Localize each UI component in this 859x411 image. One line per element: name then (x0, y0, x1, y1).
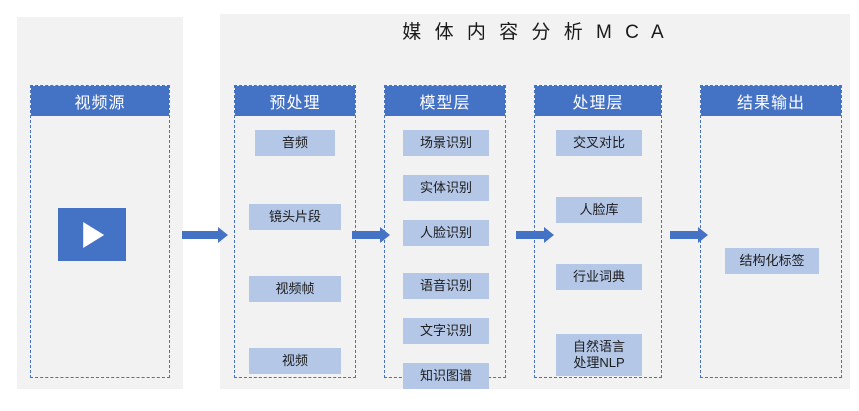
stage-header-preprocessing: 预处理 (235, 86, 355, 116)
stage-body-result-output: 结构化标签 (701, 116, 841, 377)
page-title: 媒 体 内 容 分 析 M C A (220, 17, 850, 44)
stage-result-output: 结果输出 结构化标签 (700, 85, 842, 378)
arrow-head (218, 227, 228, 243)
stage-header-result-output: 结果输出 (701, 86, 841, 116)
item-processing-layer-3[interactable]: 自然语言 处理NLP (556, 334, 642, 376)
arrow-shaft (352, 231, 380, 239)
stage-body-processing-layer: 交叉对比 人脸库 行业词典 自然语言 处理NLP (535, 116, 661, 377)
item-processing-layer-0[interactable]: 交叉对比 (556, 130, 642, 156)
stage-body-preprocessing: 音频 镜头片段 视频帧 视频 (235, 116, 355, 377)
stage-processing-layer: 处理层 交叉对比 人脸库 行业词典 自然语言 处理NLP (534, 85, 662, 378)
stage-body-model-layer: 场景识别 实体识别 人脸识别 语音识别 文字识别 知识图谱 (385, 116, 505, 377)
arrow-preprocessing-to-model-layer (352, 227, 388, 243)
item-model-layer-1[interactable]: 实体识别 (403, 175, 489, 201)
play-triangle-icon (83, 222, 104, 248)
item-preprocessing-1[interactable]: 镜头片段 (249, 204, 341, 230)
item-preprocessing-3[interactable]: 视频 (249, 348, 341, 374)
item-model-layer-4[interactable]: 文字识别 (403, 318, 489, 344)
stage-header-processing-layer: 处理层 (535, 86, 661, 116)
item-model-layer-0[interactable]: 场景识别 (403, 130, 489, 156)
item-processing-layer-2[interactable]: 行业词典 (556, 264, 642, 290)
item-processing-layer-1[interactable]: 人脸库 (556, 197, 642, 223)
stage-preprocessing: 预处理 音频 镜头片段 视频帧 视频 (234, 85, 356, 378)
arrow-video-source-to-preprocessing (182, 227, 228, 243)
diagram-canvas: 媒 体 内 容 分 析 M C A 视频源 预处理 音频 镜头片段 视频帧 视频… (0, 0, 859, 411)
stage-header-model-layer: 模型层 (385, 86, 505, 116)
stage-header-video-source: 视频源 (31, 86, 169, 116)
item-preprocessing-2[interactable]: 视频帧 (249, 276, 341, 302)
item-model-layer-2[interactable]: 人脸识别 (403, 220, 489, 246)
item-preprocessing-0[interactable]: 音频 (255, 130, 335, 156)
item-model-layer-3[interactable]: 语音识别 (403, 273, 489, 299)
item-model-layer-5[interactable]: 知识图谱 (403, 363, 489, 389)
arrow-shaft (670, 231, 698, 239)
arrow-shaft (182, 231, 218, 239)
item-result-output-0[interactable]: 结构化标签 (725, 248, 819, 274)
play-icon[interactable] (58, 208, 126, 261)
stage-model-layer: 模型层 场景识别 实体识别 人脸识别 语音识别 文字识别 知识图谱 (384, 85, 506, 378)
